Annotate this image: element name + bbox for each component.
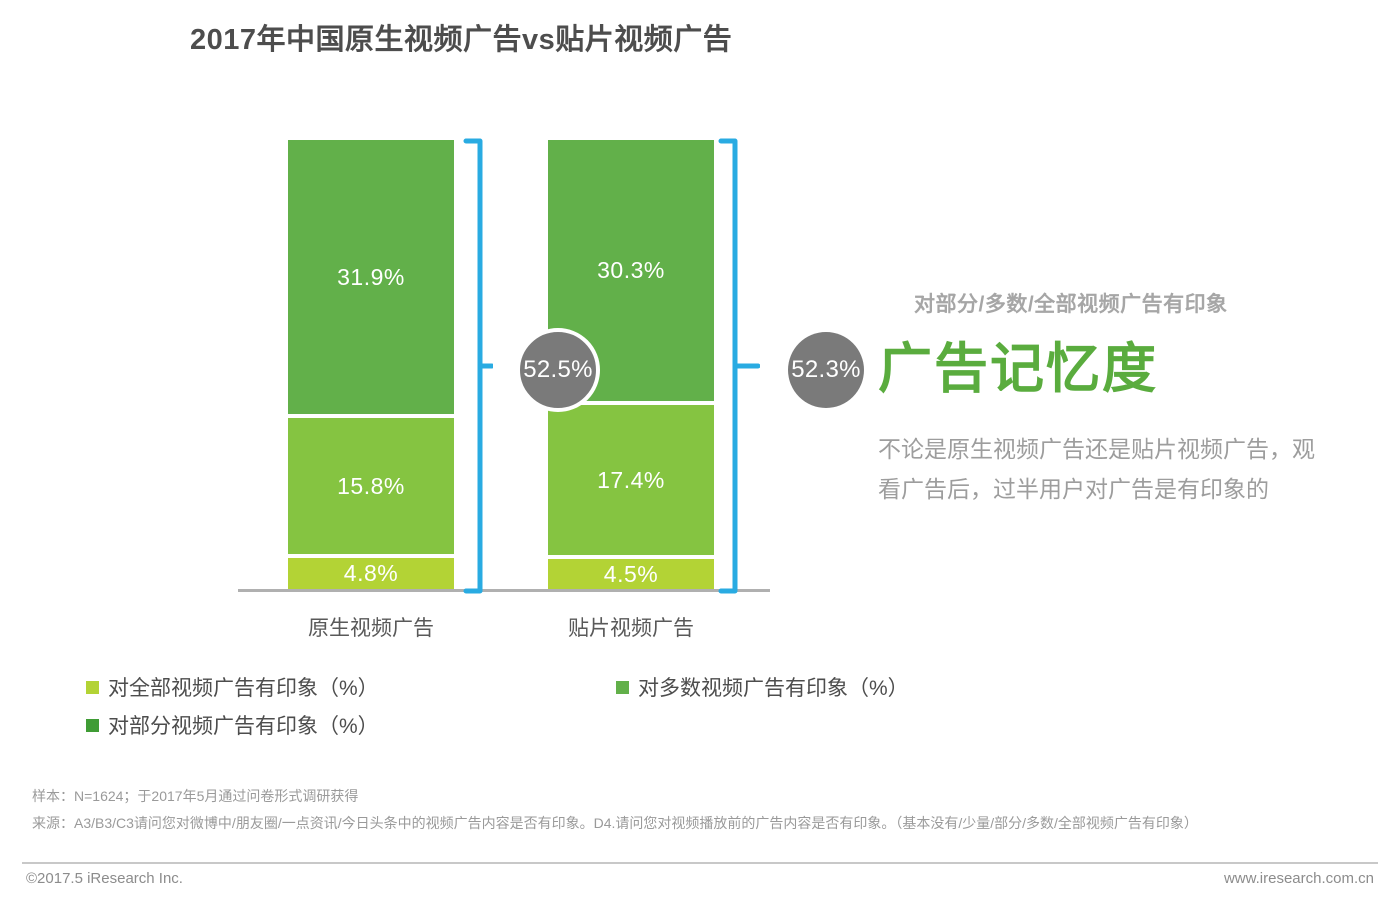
legend-swatch-icon bbox=[616, 681, 629, 694]
bar-segment-label: 4.5% bbox=[604, 561, 658, 588]
bar-segment-all[interactable]: 4.5% bbox=[548, 559, 714, 589]
bar-segment-label: 31.9% bbox=[337, 264, 405, 291]
chart-plot-area: 31.9% 15.8% 4.8% 30.3% 17.4% 4.5% bbox=[0, 0, 900, 660]
total-badge-preroll[interactable]: 52.3% bbox=[788, 332, 864, 408]
total-badge-label: 52.5% bbox=[523, 356, 593, 384]
legend-row: 对部分视频广告有印象（%） bbox=[86, 710, 986, 740]
total-badge-native[interactable]: 52.5% bbox=[516, 328, 600, 412]
legend-label: 对部分视频广告有印象（%） bbox=[108, 710, 379, 740]
copyright-text: ©2017.5 iResearch Inc. bbox=[26, 870, 183, 887]
x-axis-line bbox=[238, 589, 770, 592]
chart-legend: 对全部视频广告有印象（%） 对多数视频广告有印象（%） 对部分视频广告有印象（%… bbox=[86, 672, 986, 748]
legend-item-partial[interactable]: 对部分视频广告有印象（%） bbox=[86, 710, 616, 740]
bar-segment-label: 4.8% bbox=[344, 560, 398, 587]
website-link[interactable]: www.iresearch.com.cn bbox=[1224, 870, 1374, 887]
legend-swatch-icon bbox=[86, 681, 99, 694]
legend-row: 对全部视频广告有印象（%） 对多数视频广告有印象（%） bbox=[86, 672, 986, 702]
insight-body: 不论是原生视频广告还是贴片视频广告，观看广告后，过半用户对广告是有印象的 bbox=[878, 429, 1328, 510]
bar-segment-all[interactable]: 4.8% bbox=[288, 558, 454, 589]
slide-canvas: 2017年中国原生视频广告vs贴片视频广告 31.9% 15.8% 4.8% 3… bbox=[0, 0, 1400, 898]
legend-label: 对多数视频广告有印象（%） bbox=[638, 672, 909, 702]
bar-segment-label: 15.8% bbox=[337, 473, 405, 500]
note-sample: 样本：N=1624；于2017年5月通过问卷形式调研获得 bbox=[32, 786, 1372, 808]
bracket-native bbox=[463, 138, 493, 594]
footer-divider bbox=[22, 862, 1378, 864]
bar-segment-label: 17.4% bbox=[597, 467, 665, 494]
legend-item-all[interactable]: 对全部视频广告有印象（%） bbox=[86, 672, 616, 702]
bar-segment-most[interactable]: 15.8% bbox=[288, 418, 454, 554]
total-badge-label: 52.3% bbox=[791, 356, 861, 384]
footnotes: 样本：N=1624；于2017年5月通过问卷形式调研获得 来源：A3/B3/C3… bbox=[32, 786, 1372, 834]
insight-panel: 对部分/多数/全部视频广告有印象 广告记忆度 不论是原生视频广告还是贴片视频广告… bbox=[878, 288, 1378, 510]
insight-headline: 广告记忆度 bbox=[878, 324, 1378, 403]
bar-segment-label: 30.3% bbox=[597, 257, 665, 284]
insight-kicker: 对部分/多数/全部视频广告有印象 bbox=[914, 288, 1378, 318]
bar-segment-most[interactable]: 17.4% bbox=[548, 405, 714, 555]
x-axis-label-preroll: 贴片视频广告 bbox=[511, 612, 751, 642]
legend-swatch-icon bbox=[86, 719, 99, 732]
x-axis-label-native: 原生视频广告 bbox=[251, 612, 491, 642]
bar-segment-partial[interactable]: 31.9% bbox=[288, 140, 454, 414]
note-source: 来源：A3/B3/C3请问您对微博中/朋友圈/一点资讯/今日头条中的视频广告内容… bbox=[32, 813, 1372, 835]
legend-item-most[interactable]: 对多数视频广告有印象（%） bbox=[616, 672, 909, 702]
bracket-preroll bbox=[718, 138, 760, 594]
legend-label: 对全部视频广告有印象（%） bbox=[108, 672, 379, 702]
